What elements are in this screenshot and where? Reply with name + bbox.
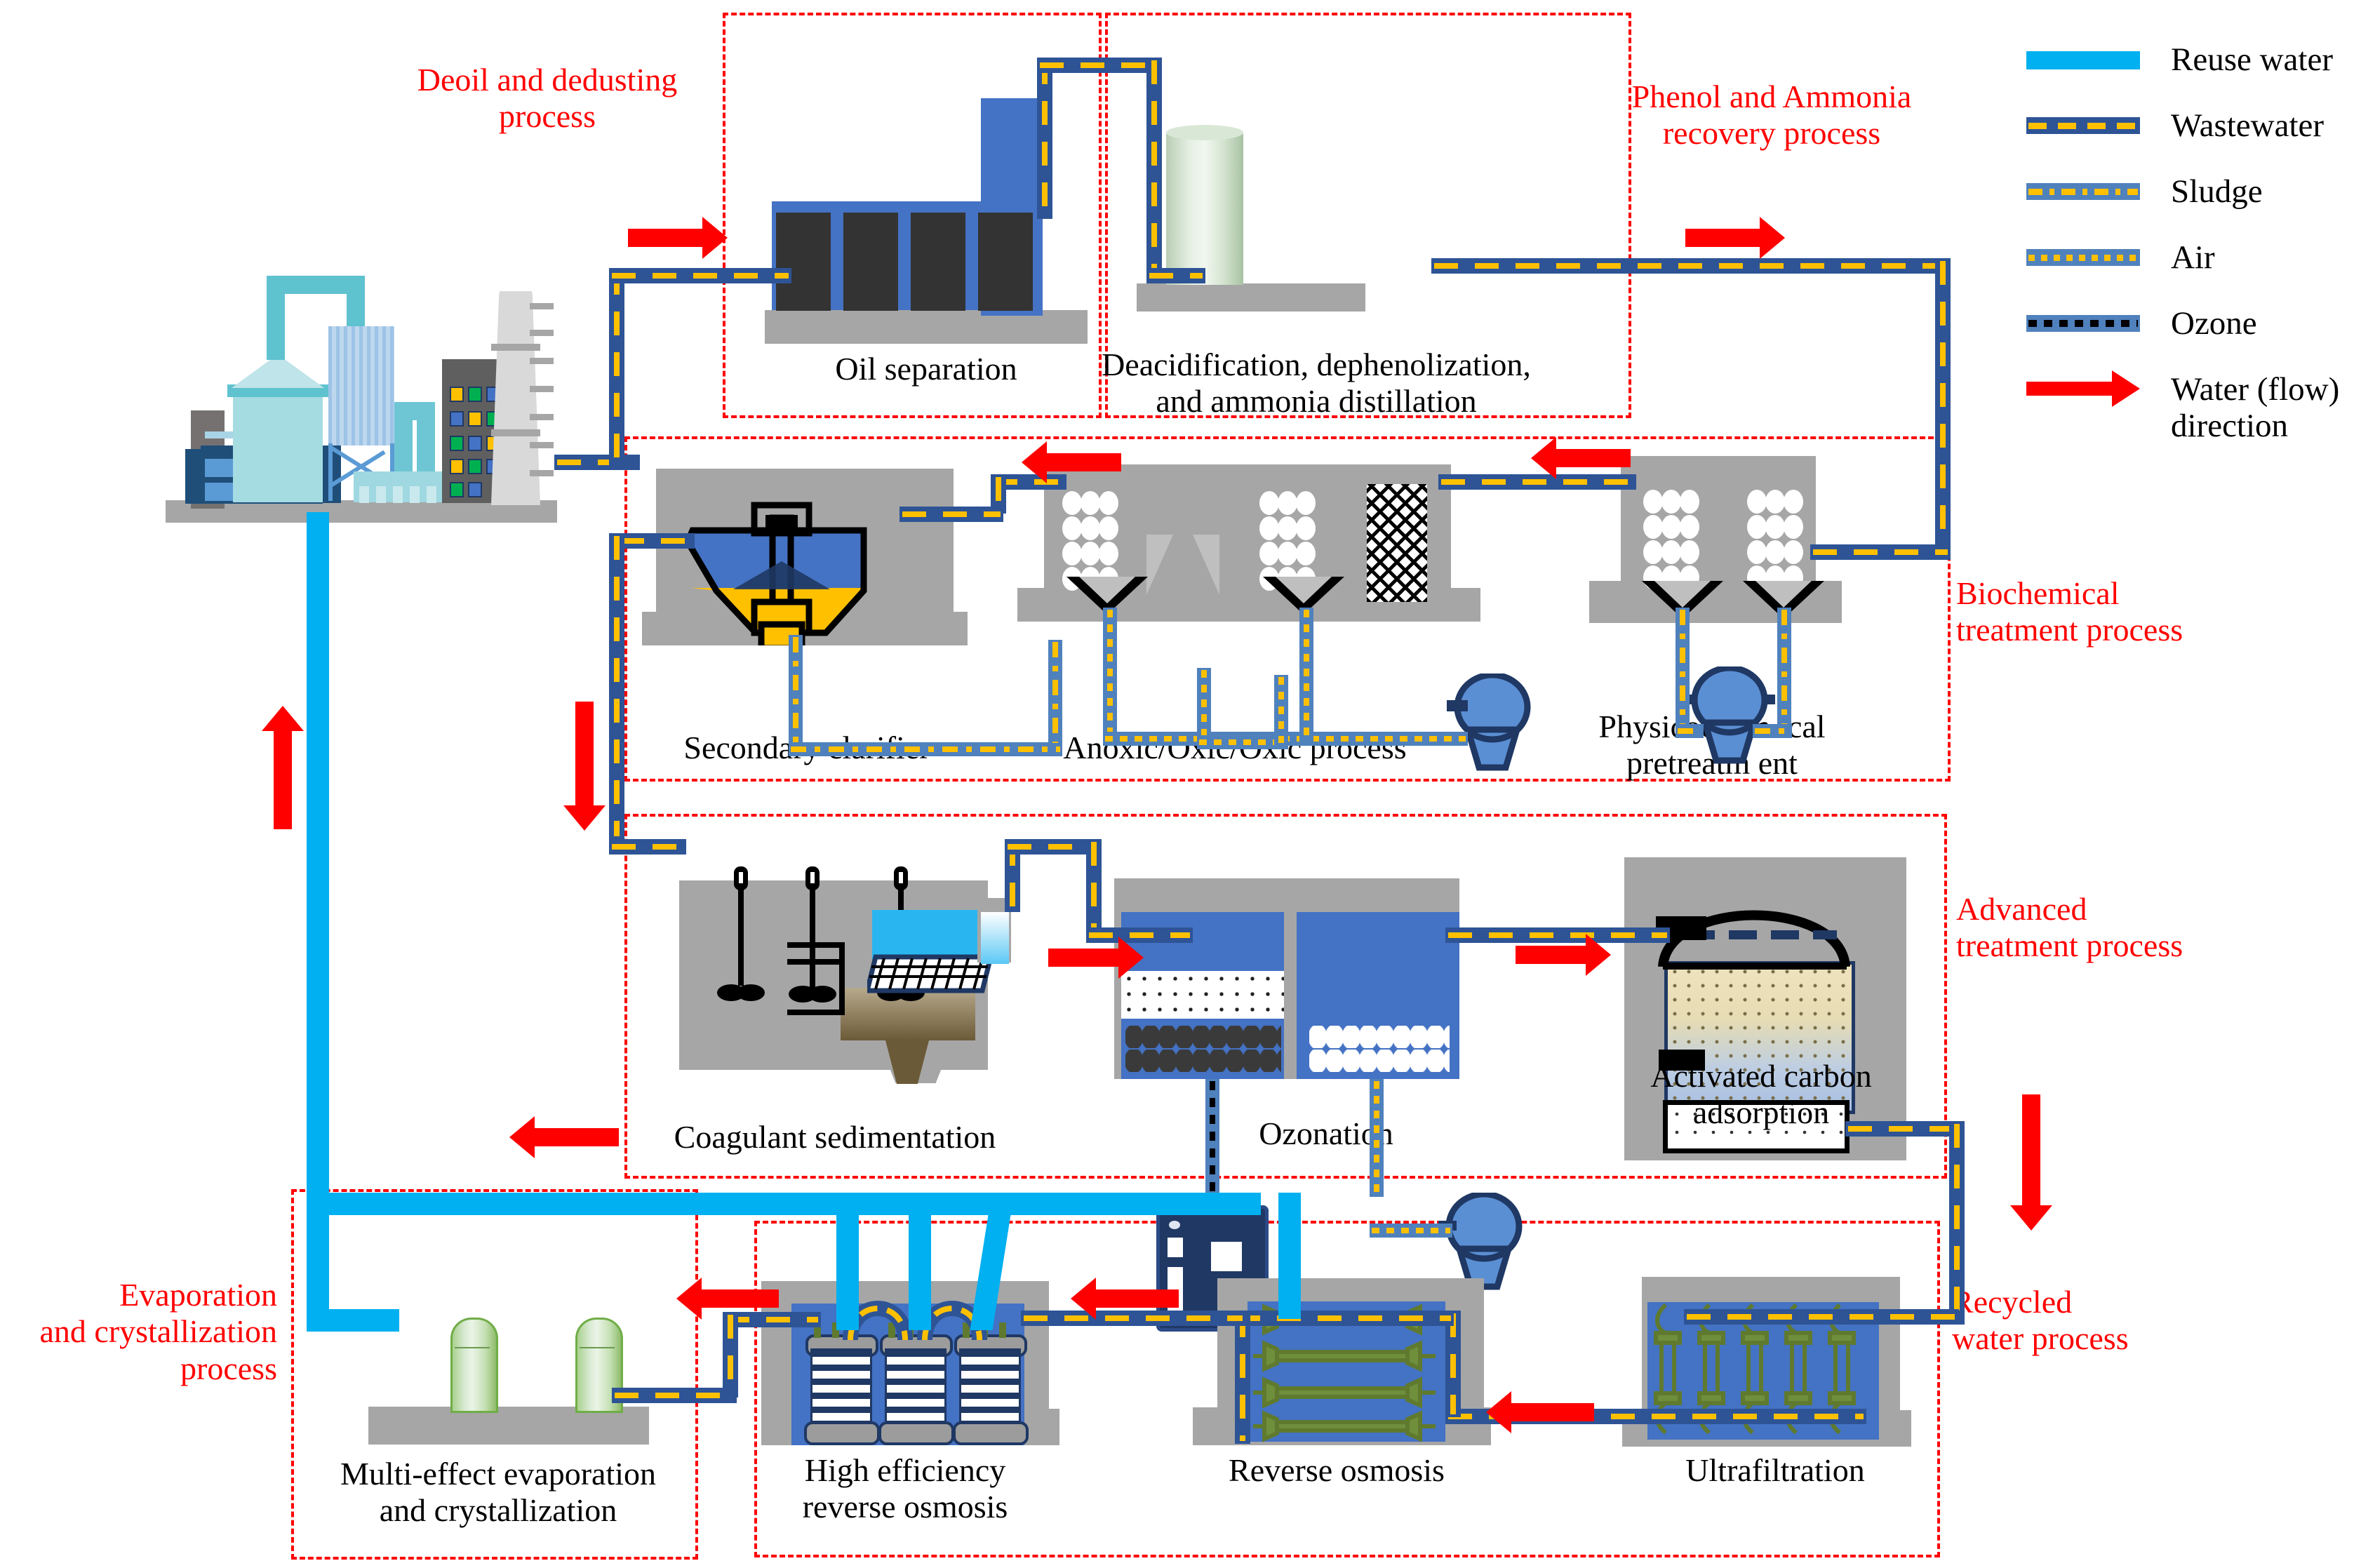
pipe-ozon-to-carbon bbox=[1445, 927, 1670, 943]
flow-arrow-advanced-to-coag bbox=[533, 1128, 619, 1146]
unit-label-ozonation: Ozonation bbox=[1193, 1115, 1459, 1152]
flow-arrow-carbon-down bbox=[2022, 1094, 2040, 1207]
blower-physicochemical bbox=[1684, 666, 1775, 765]
air-riser-aoo-1 bbox=[1103, 608, 1117, 744]
pipe-riser-to-oil bbox=[609, 268, 624, 470]
legend-label-sludge: Sludge bbox=[2171, 174, 2263, 210]
air-ozon-header bbox=[1370, 1224, 1452, 1238]
legend-item-flow-direction: Water (flow) direction bbox=[2026, 372, 2356, 408]
evaporator-column-1 bbox=[450, 1318, 498, 1413]
pipe-ozon-drop bbox=[1086, 839, 1102, 936]
reuse-water-swatch bbox=[2026, 51, 2140, 69]
legend-item-air: Air bbox=[2026, 240, 2356, 276]
legend: Reuse water Wastewater Sludge Air Ozone … bbox=[2026, 42, 2356, 438]
zone-label-biochemical: Biochemical treatment process bbox=[1956, 575, 2251, 649]
pipe-clarifier-to-coag-down bbox=[609, 533, 624, 839]
reuse-trunk-bottom bbox=[307, 1193, 1261, 1215]
pipe-ro-riser bbox=[1445, 1311, 1461, 1417]
aeration-bubbles-2 bbox=[1259, 491, 1327, 589]
sludge-swatch bbox=[2026, 183, 2140, 201]
pipe-uf-inlet bbox=[1684, 1309, 1959, 1325]
sludge-physicochem-2 bbox=[1777, 608, 1791, 735]
aeration-bubbles-4 bbox=[1747, 490, 1814, 588]
legend-item-reuse-water: Reuse water bbox=[2026, 42, 2356, 79]
pipe-carbon-outlet bbox=[1845, 1121, 1963, 1137]
flow-arrow-clarifier-down bbox=[575, 702, 594, 807]
unit-label-oil-separation: Oil separation bbox=[744, 351, 1109, 387]
flow-arrow-physicochem-to-aoo bbox=[1555, 449, 1631, 467]
reuse-riser-ro bbox=[1278, 1193, 1301, 1319]
sludge-clarifier-return bbox=[789, 742, 1062, 756]
flow-arrow-hero-to-evap bbox=[700, 1289, 779, 1308]
pipe-ro-left-drop bbox=[1235, 1311, 1250, 1444]
sludge-return-riser bbox=[1048, 640, 1062, 745]
reuse-riser-hero-2 bbox=[909, 1193, 931, 1330]
sludge-physicochem-1 bbox=[1676, 608, 1690, 735]
unit-label-activated-carbon: Activated carbon adsorption bbox=[1600, 1058, 1922, 1130]
sludge-clarifier-down bbox=[789, 635, 803, 756]
aeration-bubbles-1 bbox=[1062, 491, 1130, 589]
legend-item-sludge: Sludge bbox=[2026, 174, 2356, 210]
unit-label-multi-effect-evaporation: Multi-effect evaporation and crystalliza… bbox=[302, 1456, 695, 1528]
unit-label-deacidification: Deacidification, dephenolization, and am… bbox=[1099, 347, 1534, 419]
ozone-swatch bbox=[2026, 315, 2140, 333]
pipe-ro-to-hero bbox=[1021, 1311, 1245, 1326]
pipe-clarifier-inlet bbox=[617, 533, 695, 549]
air-loop-right bbox=[1274, 675, 1288, 745]
pipe-coag-inlet bbox=[609, 839, 686, 855]
pipe-plant-to-oil bbox=[554, 455, 640, 470]
sludge-physicochem-right bbox=[1753, 724, 1792, 738]
process-flow-diagram: Deoil and dedusting process Phenol and A… bbox=[0, 0, 2361, 1568]
unit-label-high-efficiency-ro: High efficiency reverse osmosis bbox=[758, 1452, 1052, 1525]
lamella-plates bbox=[867, 954, 994, 998]
pipe-oil-riser bbox=[1037, 58, 1052, 219]
legend-label-flow-direction: Water (flow) direction bbox=[2171, 372, 2339, 444]
unit-label-coagulant-sedimentation: Coagulant sedimentation bbox=[642, 1119, 1028, 1155]
mixer-1 bbox=[716, 866, 765, 1021]
flow-arrow-aoo-to-clarifier bbox=[1045, 453, 1121, 471]
legend-label-air: Air bbox=[2171, 240, 2215, 276]
flow-arrow-ro-to-hero bbox=[1095, 1289, 1179, 1308]
sludge-physicochem-left bbox=[1676, 724, 1704, 738]
flow-arrow-to-oil-separation bbox=[628, 229, 704, 247]
ozone-diffusers bbox=[1125, 1026, 1281, 1075]
mixer-2 bbox=[787, 866, 850, 1042]
blower-aoo bbox=[1447, 674, 1538, 772]
air-ozon-riser bbox=[1370, 1079, 1384, 1197]
flow-arrow-swatch bbox=[2026, 372, 2140, 400]
unit-label-ultrafiltration: Ultrafiltration bbox=[1635, 1452, 1915, 1489]
pipe-deacid-to-physicochem bbox=[1431, 258, 1951, 274]
flow-arrow-to-phenol bbox=[1685, 229, 1761, 247]
pipe-physicochem-down bbox=[1935, 258, 1951, 560]
zone-label-deoil: Deoil and dedusting process bbox=[393, 62, 702, 135]
air-riser-aoo-2 bbox=[1299, 608, 1313, 744]
air-swatch bbox=[2026, 249, 2140, 267]
reuse-plant-connection bbox=[307, 512, 329, 523]
legend-label-ozone: Ozone bbox=[2171, 306, 2257, 342]
flow-arrow-coag-to-ozon bbox=[1048, 949, 1120, 967]
legend-label-reuse-water: Reuse water bbox=[2171, 42, 2333, 79]
pipe-carbon-down bbox=[1949, 1121, 1965, 1325]
pipe-deacid-inlet bbox=[1146, 268, 1205, 283]
pipe-to-oil-inlet bbox=[609, 268, 791, 283]
pipe-to-clarifier bbox=[899, 507, 1003, 522]
reuse-branch-left-stub bbox=[307, 1309, 399, 1332]
ro-top-loops bbox=[838, 1287, 1034, 1343]
packing-media bbox=[1367, 484, 1427, 602]
unit-label-reverse-osmosis: Reverse osmosis bbox=[1186, 1452, 1487, 1489]
reuse-trunk-vertical bbox=[307, 512, 329, 1214]
reuse-riser-hero-1 bbox=[836, 1193, 859, 1330]
air-diffusers bbox=[1309, 1026, 1450, 1075]
aeration-bubbles-3 bbox=[1643, 490, 1711, 588]
zone-label-evaporation: Evaporation and crystallization process bbox=[21, 1277, 277, 1387]
pipe-hero-drop bbox=[723, 1312, 738, 1398]
flow-arrow-ozon-to-carbon bbox=[1516, 946, 1587, 964]
blower-ozonation bbox=[1438, 1193, 1530, 1291]
legend-item-ozone: Ozone bbox=[2026, 306, 2356, 342]
pipe-oil-top bbox=[1037, 58, 1162, 73]
legend-item-wastewater: Wastewater bbox=[2026, 108, 2356, 145]
pipe-to-deacid bbox=[1146, 58, 1162, 283]
ozone-feed-line bbox=[1205, 1079, 1219, 1209]
flow-arrow-reuse-up bbox=[274, 730, 292, 829]
flow-arrow-uf-to-ro bbox=[1510, 1403, 1594, 1421]
pipe-evap-inlet bbox=[612, 1388, 737, 1403]
legend-label-wastewater: Wastewater bbox=[2171, 108, 2324, 145]
zone-label-phenol: Phenol and Ammonia recovery process bbox=[1586, 79, 1958, 152]
wastewater-swatch bbox=[2026, 117, 2140, 135]
zone-label-advanced: Advanced treatment process bbox=[1956, 891, 2258, 965]
zone-label-recycled: Recycled water process bbox=[1952, 1284, 2233, 1358]
pipe-physicochem-inlet bbox=[1810, 544, 1951, 560]
